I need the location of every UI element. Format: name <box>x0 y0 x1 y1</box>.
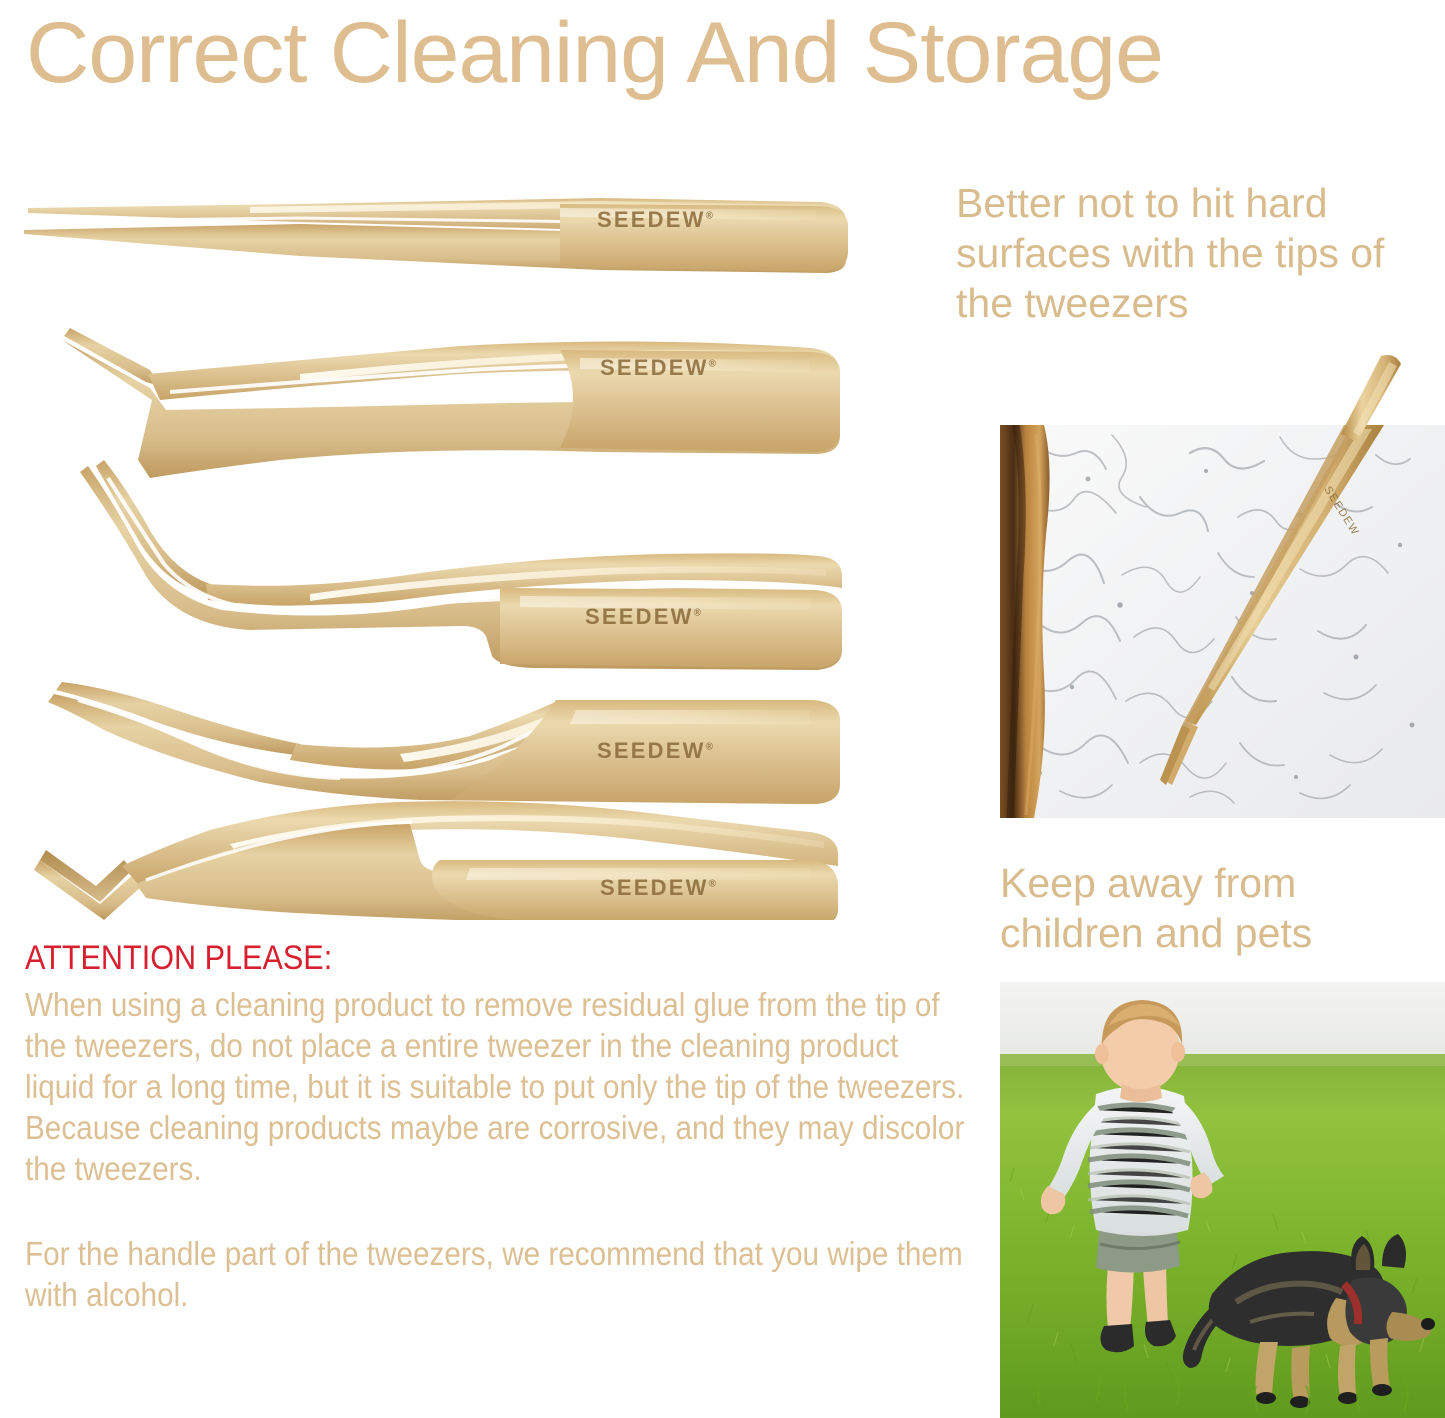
infographic-page: Correct Cleaning And Storage <box>0 0 1445 1418</box>
tweezer-curved-boot <box>48 682 840 804</box>
brand-engraving-3: SEEDEW® <box>585 604 701 630</box>
attention-heading: ATTENTION PLEASE: <box>25 938 876 978</box>
marble-photo-svg: SEEDEW <box>1000 425 1445 818</box>
hard-surface-warning-text: Better not to hit hard surfaces with the… <box>956 178 1445 328</box>
brand-engraving-5: SEEDEW® <box>600 875 716 901</box>
brand-engraving-1: SEEDEW® <box>597 207 713 233</box>
child-dog-photo-svg <box>1000 982 1445 1418</box>
child-and-dog-photo <box>1000 982 1445 1418</box>
attention-block: ATTENTION PLEASE: When using a cleaning … <box>25 938 970 1315</box>
tweezer-illustrations <box>0 160 940 920</box>
tweezer-angled-45 <box>62 328 840 478</box>
tweezer-l-hook <box>34 801 838 920</box>
brand-engraving-4: SEEDEW® <box>597 738 713 764</box>
keep-away-warning-text: Keep away from children and pets <box>1000 858 1445 958</box>
marble-surface-photo: SEEDEW <box>1000 425 1445 818</box>
brand-engraving-2: SEEDEW® <box>600 355 716 381</box>
tweezer-curved-j <box>80 460 842 670</box>
tweezer-product-stack: SEEDEW® SEEDEW® SEEDEW® SEEDEW® SEEDEW® <box>0 160 940 920</box>
attention-paragraph-1: When using a cleaning product to remove … <box>25 984 966 1189</box>
attention-paragraph-2: For the handle part of the tweezers, we … <box>25 1233 966 1315</box>
tweezer-straight <box>24 198 848 273</box>
page-title: Correct Cleaning And Storage <box>26 4 1445 102</box>
